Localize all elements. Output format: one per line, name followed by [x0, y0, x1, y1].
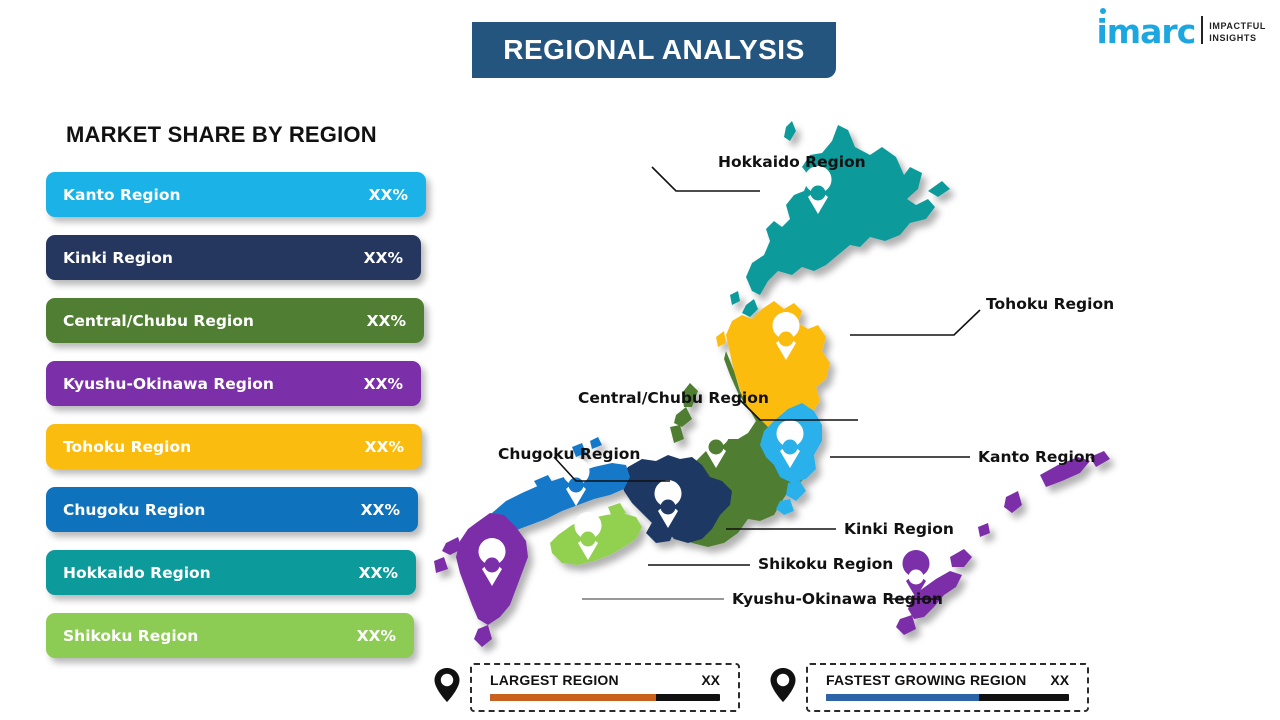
bottom-legend: LARGEST REGIONXXFASTEST GROWING REGIONXX	[434, 663, 1089, 712]
logo-divider	[1201, 16, 1203, 44]
market-share-bar-label: Kanto Region	[63, 186, 369, 204]
region-hokkaido[interactable]	[730, 121, 950, 317]
market-share-bar-label: Shikoku Region	[63, 627, 357, 645]
market-share-bar[interactable]: Kyushu-Okinawa RegionXX%	[46, 361, 421, 406]
bottom-legend-value: XX	[1050, 672, 1069, 688]
logo-wordmark: imarc	[1096, 17, 1195, 47]
market-share-heading: MARKET SHARE BY REGION	[66, 122, 377, 148]
bottom-legend-item: FASTEST GROWING REGIONXX	[770, 663, 1089, 712]
market-share-bar[interactable]: Tohoku RegionXX%	[46, 424, 422, 469]
market-share-bar-value: XX%	[364, 249, 403, 267]
bottom-legend-box: LARGEST REGIONXX	[470, 663, 740, 712]
bottom-legend-name: FASTEST GROWING REGION	[826, 672, 1026, 688]
market-share-bar-value: XX%	[364, 375, 403, 393]
page-title: REGIONAL ANALYSIS	[503, 34, 805, 66]
market-share-bar-label: Kinki Region	[63, 249, 364, 267]
bottom-legend-progress-fill	[490, 694, 656, 701]
bottom-legend-row: FASTEST GROWING REGIONXX	[826, 672, 1069, 688]
map-region-label: Chugoku Region	[498, 445, 640, 463]
page-title-banner: REGIONAL ANALYSIS	[472, 22, 836, 78]
map-region-label: Kanto Region	[978, 448, 1096, 466]
map-pin-icon	[770, 668, 796, 707]
logo-tagline-line2: INSIGHTS	[1209, 32, 1266, 44]
market-share-bar-value: XX%	[367, 312, 406, 330]
market-share-bar-value: XX%	[369, 186, 408, 204]
bottom-legend-progress-track	[490, 694, 720, 701]
japan-map: Hokkaido RegionTohoku RegionCentral/Chub…	[430, 95, 1130, 655]
bottom-legend-progress-track	[826, 694, 1069, 701]
map-pin-icon	[434, 668, 460, 707]
bottom-legend-row: LARGEST REGIONXX	[490, 672, 720, 688]
bottom-legend-box: FASTEST GROWING REGIONXX	[806, 663, 1089, 712]
map-region-label: Tohoku Region	[986, 295, 1114, 313]
market-share-bar-value: XX%	[361, 501, 400, 519]
logo-tagline: IMPACTFUL INSIGHTS	[1209, 20, 1266, 47]
market-share-bar[interactable]: Chugoku RegionXX%	[46, 487, 418, 532]
market-share-bar[interactable]: Central/Chubu RegionXX%	[46, 298, 424, 343]
map-region-label: Kyushu-Okinawa Region	[732, 590, 943, 608]
market-share-bar-value: XX%	[365, 438, 404, 456]
bottom-legend-item: LARGEST REGIONXX	[434, 663, 740, 712]
logo-wordmark-text: imarc	[1096, 12, 1195, 51]
market-share-bar-label: Central/Chubu Region	[63, 312, 367, 330]
map-region-label: Central/Chubu Region	[578, 389, 769, 407]
market-share-bar-value: XX%	[359, 564, 398, 582]
market-share-bar[interactable]: Kanto RegionXX%	[46, 172, 426, 217]
market-share-bar-label: Tohoku Region	[63, 438, 365, 456]
market-share-bar-label: Hokkaido Region	[63, 564, 359, 582]
slide-root: REGIONAL ANALYSIS imarc IMPACTFUL INSIGH…	[0, 0, 1280, 720]
leader-line-tohoku	[850, 310, 980, 335]
market-share-bar[interactable]: Kinki RegionXX%	[46, 235, 421, 280]
imarc-logo: imarc IMPACTFUL INSIGHTS	[1096, 16, 1266, 47]
map-region-label: Kinki Region	[844, 520, 954, 538]
bottom-legend-name: LARGEST REGION	[490, 672, 619, 688]
market-share-bar[interactable]: Shikoku RegionXX%	[46, 613, 414, 658]
map-region-label: Shikoku Region	[758, 555, 893, 573]
logo-tagline-line1: IMPACTFUL	[1209, 20, 1266, 32]
market-share-bar-label: Kyushu-Okinawa Region	[63, 375, 364, 393]
market-share-bar[interactable]: Hokkaido RegionXX%	[46, 550, 416, 595]
market-share-bar-label: Chugoku Region	[63, 501, 361, 519]
bottom-legend-value: XX	[701, 672, 720, 688]
bottom-legend-progress-fill	[826, 694, 979, 701]
market-share-bar-list: Kanto RegionXX%Kinki RegionXX%Central/Ch…	[46, 172, 446, 676]
market-share-bar-value: XX%	[357, 627, 396, 645]
map-region-label: Hokkaido Region	[718, 153, 866, 171]
